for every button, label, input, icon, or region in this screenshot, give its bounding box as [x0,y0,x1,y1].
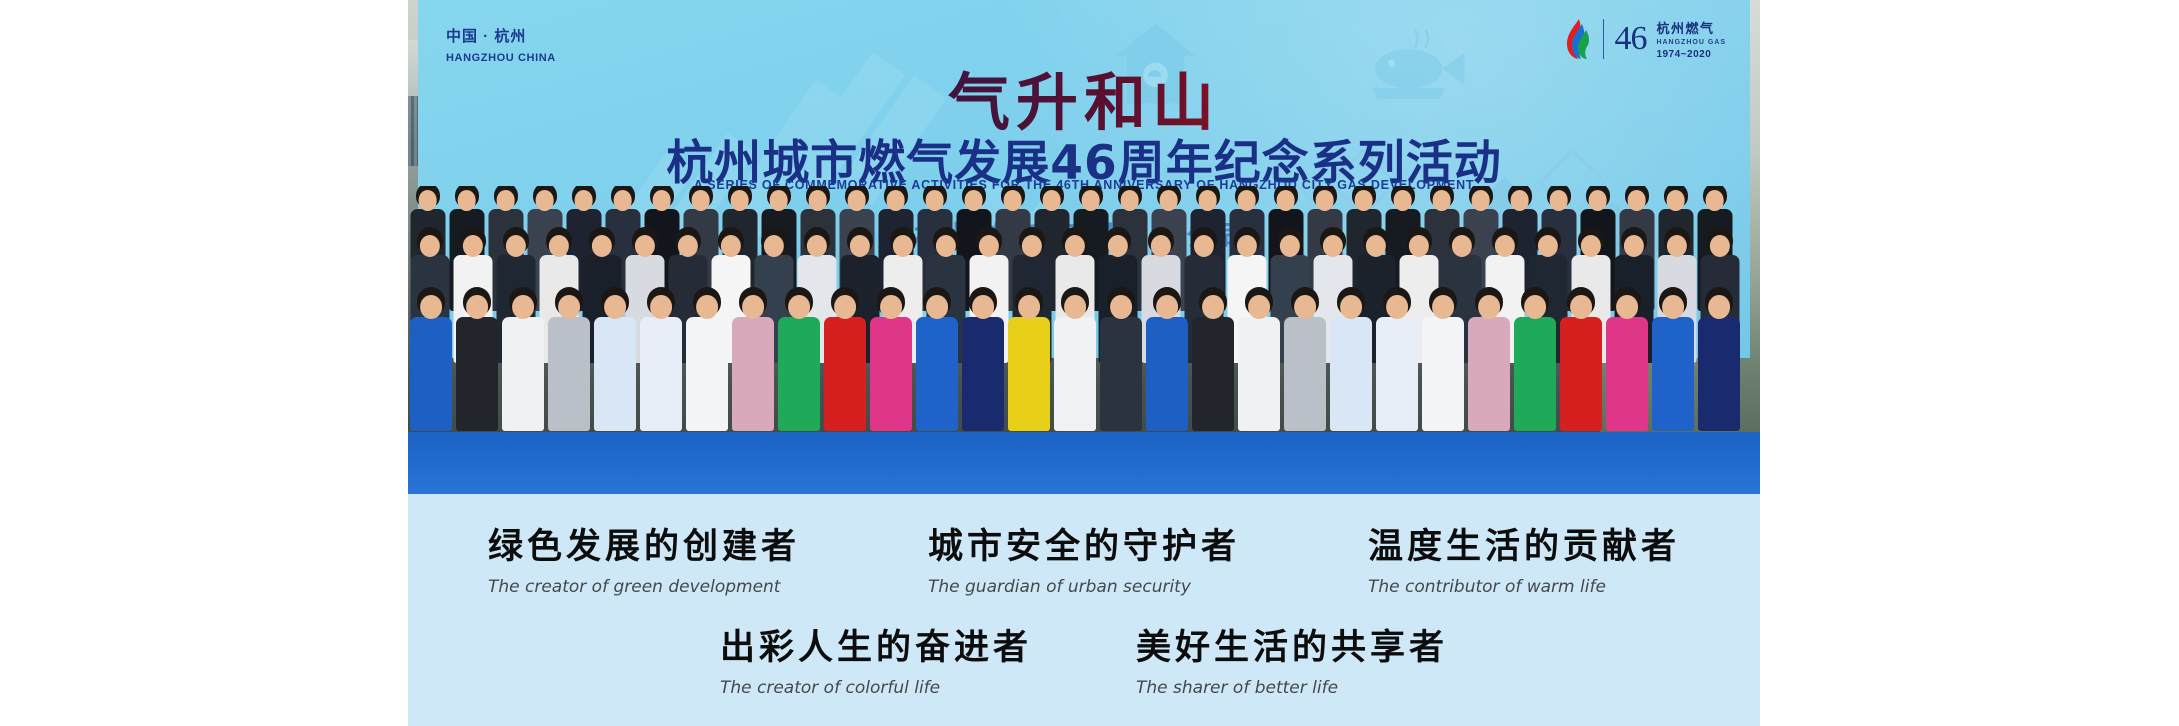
person-head [806,235,826,257]
person-head [1709,235,1729,257]
person-head [1708,295,1730,319]
crowd-person [500,290,546,432]
person-head [418,190,437,211]
person-head [978,235,998,257]
crowd-person [960,290,1006,432]
crowd-person [1282,290,1328,432]
person-head [1236,235,1256,257]
person-head [972,295,994,319]
logo-company-cn: 杭州燃气 [1656,18,1726,37]
crowd-person [1558,290,1604,432]
person-body [1422,317,1464,431]
person-head [1705,190,1724,211]
person-head [1276,190,1295,211]
crowd-person [1420,290,1466,432]
person-head [720,235,740,257]
person-head [926,295,948,319]
person-head [742,295,764,319]
person-head [1237,190,1256,211]
caption-cn: 城市安全的守护者 [928,518,1240,569]
person-head [1451,235,1471,257]
crowd-person [454,290,500,432]
person-head [1340,295,1362,319]
person-head [574,190,593,211]
crowd-person [1098,290,1144,432]
crowd-person [1696,290,1742,432]
person-body [778,317,820,431]
caption-cn: 温度生活的贡献者 [1368,518,1680,569]
person-head [1580,235,1600,257]
person-body [962,317,1004,431]
person-head [457,190,476,211]
locality-cn: 中国 · 杭州 [446,26,556,48]
group-photo: 中国 · 杭州 HANGZHOU CHINA 46 杭州燃气 HANGZHOU … [408,0,1760,494]
person-head [1570,295,1592,319]
person-head [849,235,869,257]
person-body [1192,317,1234,431]
person-body [732,317,774,431]
caption-cn: 出彩人生的奋进者 [720,619,1032,670]
person-head [650,295,672,319]
person-head [1471,190,1490,211]
person-head [548,235,568,257]
caption-en: The creator of colorful life [720,678,1032,698]
person-head [420,295,442,319]
captions-row-2: 出彩人生的奋进者 The creator of colorful life 美好… [408,597,1760,698]
crowd-person [1328,290,1374,432]
crowd-person [638,290,684,432]
person-body [1100,317,1142,431]
person-head [1018,295,1040,319]
logo-anniversary-number: 46 [1614,22,1646,56]
logo-company-en: HANGZHOU GAS [1656,39,1726,46]
caption-en: The guardian of urban security [928,577,1240,597]
person-head [1627,190,1646,211]
person-head [1432,190,1451,211]
person-body [456,317,498,431]
person-head [788,295,810,319]
crowd-person [408,290,454,432]
person-head [1042,190,1061,211]
person-head [1662,295,1684,319]
person-head [1064,235,1084,257]
crowd-person [1374,290,1420,432]
person-head [604,295,626,319]
person-head [834,295,856,319]
person-body [594,317,636,431]
person-head [558,295,580,319]
crowd-person [1190,290,1236,432]
person-body [1652,317,1694,431]
crowd-person [1650,290,1696,432]
caption-en: The contributor of warm life [1368,577,1680,597]
person-body [640,317,682,431]
captions-row-1: 绿色发展的创建者 The creator of green developmen… [408,494,1760,597]
crowd-person [1236,290,1282,432]
person-head [512,295,534,319]
caption-item: 城市安全的守护者 The guardian of urban security [928,518,1240,597]
person-head [1537,235,1557,257]
crowd-person [592,290,638,432]
person-head [634,235,654,257]
person-head [1279,235,1299,257]
poster-content: 中国 · 杭州 HANGZHOU CHINA 46 杭州燃气 HANGZHOU … [408,0,1760,726]
person-head [1478,295,1500,319]
person-body [1238,317,1280,431]
crowd-person [1052,290,1098,432]
caption-cn: 美好生活的共享者 [1136,619,1448,670]
person-head [1549,190,1568,211]
person-head [1494,235,1514,257]
person-head [1248,295,1270,319]
person-head [1120,190,1139,211]
person-head [1432,295,1454,319]
person-head [466,295,488,319]
person-head [847,190,866,211]
person-body [1008,317,1050,431]
person-head [613,190,632,211]
person-head [1616,295,1638,319]
person-head [925,190,944,211]
person-head [1159,190,1178,211]
crowd-person [1512,290,1558,432]
person-head [1393,190,1412,211]
person-head [1156,295,1178,319]
person-head [1315,190,1334,211]
person-head [880,295,902,319]
person-head [1322,235,1342,257]
person-head [1198,190,1217,211]
person-head [535,190,554,211]
crowd-person [822,290,868,432]
person-head [1110,295,1132,319]
person-body [1146,317,1188,431]
person-body [1376,317,1418,431]
person-head [1193,235,1213,257]
person-body [916,317,958,431]
person-head [1150,235,1170,257]
person-body [686,317,728,431]
poster-page: 中国 · 杭州 HANGZHOU CHINA 46 杭州燃气 HANGZHOU … [0,0,2179,726]
person-head [505,235,525,257]
crowd-row-front [408,290,1760,432]
person-body [824,317,866,431]
crowd-person [1144,290,1190,432]
crowd-person [546,290,592,432]
person-head [1081,190,1100,211]
person-body [1284,317,1326,431]
person-head [1666,190,1685,211]
person-head [763,235,783,257]
crowd-person [1006,290,1052,432]
person-head [1365,235,1385,257]
crowd-person [1604,290,1650,432]
person-body [1606,317,1648,431]
person-head [1386,295,1408,319]
person-head [1524,295,1546,319]
person-head [591,235,611,257]
person-head [462,235,482,257]
person-body [1054,317,1096,431]
person-body [1698,317,1740,431]
person-body [1514,317,1556,431]
person-head [496,190,515,211]
person-body [410,317,452,431]
crowd-person [684,290,730,432]
crowd-group [408,186,1760,494]
caption-en: The sharer of better life [1136,678,1448,698]
person-head [1510,190,1529,211]
person-head [1003,190,1022,211]
person-head [652,190,671,211]
person-head [1666,235,1686,257]
crowd-person [730,290,776,432]
caption-en: The creator of green development [488,577,800,597]
caption-item: 温度生活的贡献者 The contributor of warm life [1368,518,1680,597]
person-head [935,235,955,257]
person-head [696,295,718,319]
person-head [419,235,439,257]
person-body [1330,317,1372,431]
person-head [1408,235,1428,257]
person-head [1588,190,1607,211]
person-head [1623,235,1643,257]
person-head [1021,235,1041,257]
caption-cn: 绿色发展的创建者 [488,518,800,569]
caption-item: 绿色发展的创建者 The creator of green developmen… [488,518,800,597]
person-body [1468,317,1510,431]
person-head [964,190,983,211]
crowd-person [776,290,822,432]
person-head [1294,295,1316,319]
crowd-person [868,290,914,432]
person-head [677,235,697,257]
crowd-person [914,290,960,432]
person-head [1354,190,1373,211]
person-head [769,190,788,211]
stage-floor [408,432,1760,494]
caption-item: 美好生活的共享者 The sharer of better life [1136,619,1448,698]
person-head [1202,295,1224,319]
person-head [892,235,912,257]
person-head [1107,235,1127,257]
person-head [730,190,749,211]
person-body [870,317,912,431]
person-head [886,190,905,211]
caption-item: 出彩人生的奋进者 The creator of colorful life [720,619,1032,698]
person-head [691,190,710,211]
crowd-person [1466,290,1512,432]
captions-panel: 绿色发展的创建者 The creator of green developmen… [408,494,1760,726]
person-head [1064,295,1086,319]
person-body [1560,317,1602,431]
person-head [808,190,827,211]
person-body [548,317,590,431]
person-body [502,317,544,431]
